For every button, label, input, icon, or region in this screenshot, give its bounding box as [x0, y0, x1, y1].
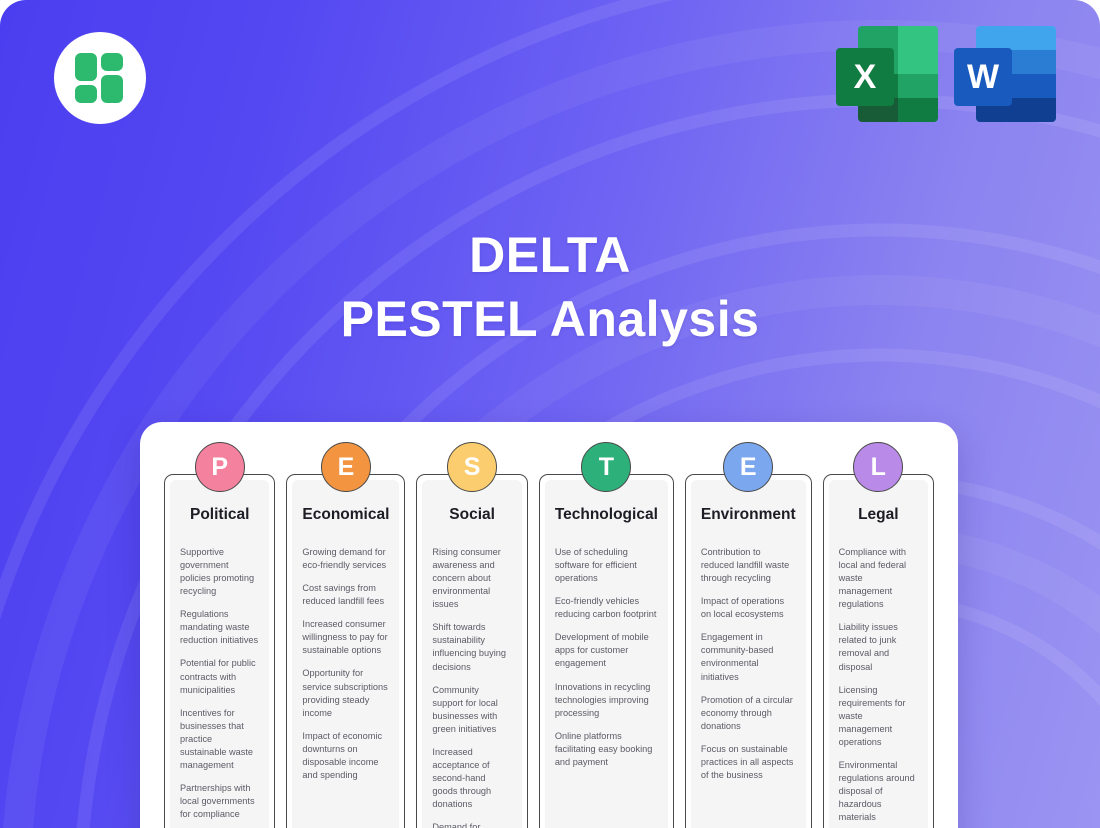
- pestel-badge-economical: E: [321, 442, 371, 492]
- pestel-badge-technological: T: [581, 442, 631, 492]
- pestel-item-list: Supportive government policies promoting…: [180, 546, 259, 821]
- pestel-item-list: Use of scheduling software for efficient…: [555, 546, 658, 769]
- pestel-item: Growing demand for eco-friendly services: [302, 546, 389, 572]
- pestel-item: Cost savings from reduced landfill fees: [302, 582, 389, 608]
- word-badge-letter: W: [954, 48, 1012, 106]
- pestel-column-body: TechnologicalUse of scheduling software …: [545, 480, 668, 828]
- pestel-column-title: Economical: [302, 506, 389, 524]
- pestel-column-title: Legal: [839, 506, 918, 524]
- pestel-badge-legal: L: [853, 442, 903, 492]
- app-grid-logo-icon: [75, 53, 125, 103]
- pestel-column-technological[interactable]: TTechnologicalUse of scheduling software…: [539, 474, 674, 828]
- pestel-item: Supportive government policies promoting…: [180, 546, 259, 598]
- pestel-item: Regulations mandating waste reduction in…: [180, 608, 259, 647]
- pestel-column-environment[interactable]: EEnvironmentContribution to reduced land…: [685, 474, 812, 828]
- pestel-item: Shift towards sustainability influencing…: [432, 621, 511, 673]
- pestel-item: Impact of operations on local ecosystems: [701, 595, 796, 621]
- pestel-column-social[interactable]: SSocialRising consumer awareness and con…: [416, 474, 527, 828]
- pestel-column-legal[interactable]: LLegalCompliance with local and federal …: [823, 474, 934, 828]
- pestel-badge-political: P: [195, 442, 245, 492]
- word-icon[interactable]: W: [954, 26, 1056, 128]
- slide-canvas: X W DELTA PESTEL Analysis PPoliticalSupp…: [0, 0, 1100, 828]
- page-title: DELTA PESTEL Analysis: [0, 226, 1100, 348]
- pestel-badge-environment: E: [723, 442, 773, 492]
- page-title-line-2: PESTEL Analysis: [0, 290, 1100, 348]
- pestel-item: Eco-friendly vehicles reducing carbon fo…: [555, 595, 658, 621]
- pestel-column-body: LegalCompliance with local and federal w…: [829, 480, 928, 828]
- pestel-item: Partnerships with local governments for …: [180, 782, 259, 821]
- pestel-item: Rising consumer awareness and concern ab…: [432, 546, 511, 611]
- pestel-item: Community support for local businesses w…: [432, 684, 511, 736]
- page-title-line-1: DELTA: [0, 226, 1100, 284]
- pestel-item: Engagement in community-based environmen…: [701, 631, 796, 683]
- pestel-item: Promotion of a circular economy through …: [701, 694, 796, 733]
- logo-cell-3: [75, 85, 97, 103]
- pestel-item: Potential for public contracts with muni…: [180, 657, 259, 696]
- pestel-item: Liability issues related to junk removal…: [839, 621, 918, 673]
- excel-badge-letter: X: [836, 48, 894, 106]
- pestel-column-title: Technological: [555, 506, 658, 524]
- pestel-item-list: Contribution to reduced landfill waste t…: [701, 546, 796, 782]
- pestel-badge-social: S: [447, 442, 497, 492]
- excel-icon[interactable]: X: [836, 26, 938, 128]
- pestel-item-list: Compliance with local and federal waste …: [839, 546, 918, 828]
- brand-logo: [54, 32, 146, 124]
- pestel-columns: PPoliticalSupportive government policies…: [164, 474, 934, 828]
- pestel-column-body: EconomicalGrowing demand for eco-friendl…: [292, 480, 399, 828]
- pestel-item: Innovations in recycling technologies im…: [555, 681, 658, 720]
- pestel-item: Increased acceptance of second-hand good…: [432, 746, 511, 811]
- pestel-item: Demand for educational resources on wast…: [432, 821, 511, 828]
- pestel-column-body: SocialRising consumer awareness and conc…: [422, 480, 521, 828]
- pestel-item: Focus on sustainable practices in all as…: [701, 743, 796, 782]
- pestel-column-body: EnvironmentContribution to reduced landf…: [691, 480, 806, 828]
- pestel-column-political[interactable]: PPoliticalSupportive government policies…: [164, 474, 275, 828]
- pestel-column-title: Political: [180, 506, 259, 524]
- pestel-item-list: Growing demand for eco-friendly services…: [302, 546, 389, 782]
- pestel-board: PPoliticalSupportive government policies…: [140, 422, 958, 828]
- logo-cell-2: [101, 53, 123, 71]
- pestel-item: Impact of economic downturns on disposab…: [302, 730, 389, 782]
- export-format-icons: X W: [836, 26, 1056, 128]
- pestel-item: Incentives for businesses that practice …: [180, 707, 259, 772]
- pestel-item: Compliance with local and federal waste …: [839, 546, 918, 611]
- pestel-item: Contribution to reduced landfill waste t…: [701, 546, 796, 585]
- pestel-item-list: Rising consumer awareness and concern ab…: [432, 546, 511, 828]
- pestel-column-title: Social: [432, 506, 511, 524]
- pestel-item: Increased consumer willingness to pay fo…: [302, 618, 389, 657]
- pestel-item: Online platforms facilitating easy booki…: [555, 730, 658, 769]
- pestel-column-economical[interactable]: EEconomicalGrowing demand for eco-friend…: [286, 474, 405, 828]
- pestel-item: Development of mobile apps for customer …: [555, 631, 658, 670]
- pestel-item: Environmental regulations around disposa…: [839, 759, 918, 824]
- pestel-item: Licensing requirements for waste managem…: [839, 684, 918, 749]
- pestel-item: Opportunity for service subscriptions pr…: [302, 667, 389, 719]
- pestel-column-title: Environment: [701, 506, 796, 524]
- logo-cell-4: [101, 75, 123, 103]
- pestel-item: Use of scheduling software for efficient…: [555, 546, 658, 585]
- pestel-column-body: PoliticalSupportive government policies …: [170, 480, 269, 828]
- logo-cell-1: [75, 53, 97, 81]
